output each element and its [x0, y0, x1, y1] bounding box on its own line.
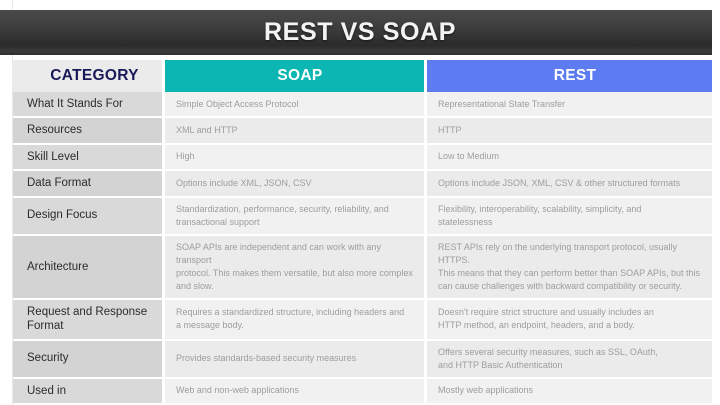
column-header-soap: SOAP	[162, 60, 424, 92]
value-line: This means that they can perform better …	[438, 267, 702, 280]
table-row: SecurityProvides standards-based securit…	[13, 341, 712, 379]
value-line: protocol. This makes them versatile, but…	[176, 267, 414, 280]
value-line: HTTP method, an endpoint, headers, and a…	[438, 319, 702, 332]
row-rest-value: Representational State Transfer	[424, 92, 712, 118]
row-category-label: Design Focus	[13, 198, 162, 236]
value-line: and slow.	[176, 280, 414, 293]
value-line: High	[176, 150, 414, 163]
title-banner: REST VS SOAP	[0, 10, 720, 55]
row-rest-value: REST APIs rely on the underlying transpo…	[424, 236, 712, 300]
value-line: Offers several security measures, such a…	[438, 346, 702, 359]
value-line: Simple Object Access Protocol	[176, 98, 414, 111]
column-header-rest: REST	[424, 60, 712, 92]
value-line: HTTP	[438, 124, 702, 137]
row-category-label: Skill Level	[13, 145, 162, 171]
row-rest-value: Flexibility, interoperability, scalabili…	[424, 198, 712, 236]
value-line: Doesn't require strict structure and usu…	[438, 306, 702, 319]
value-line: a message body.	[176, 319, 414, 332]
row-category-label: Architecture	[13, 236, 162, 300]
value-line: can cause challenges with backward compa…	[438, 280, 702, 293]
row-category-label: Used in	[13, 379, 162, 405]
value-line: Flexibility, interoperability, scalabili…	[438, 203, 702, 216]
row-soap-value: Web and non-web applications	[162, 379, 424, 405]
value-line: Web and non-web applications	[176, 384, 414, 397]
page-left-margin	[0, 0, 13, 405]
table-header: CATEGORY SOAP REST	[13, 60, 712, 92]
value-line: Provides standards-based security measur…	[176, 352, 414, 365]
row-soap-value: Provides standards-based security measur…	[162, 341, 424, 379]
value-line: XML and HTTP	[176, 124, 414, 137]
value-line: Standardization, performance, security, …	[176, 203, 414, 216]
value-line: transactional support	[176, 216, 414, 229]
value-line: Representational State Transfer	[438, 98, 702, 111]
table-header-row: CATEGORY SOAP REST	[13, 60, 712, 92]
table-row: ResourcesXML and HTTPHTTP	[13, 118, 712, 144]
row-rest-value: Doesn't require strict structure and usu…	[424, 300, 712, 341]
row-soap-value: SOAP APIs are independent and can work w…	[162, 236, 424, 300]
value-line: Mostly web applications	[438, 384, 702, 397]
rest-vs-soap-comparison-table: CATEGORY SOAP REST What It Stands ForSim…	[13, 60, 712, 405]
row-soap-value: High	[162, 145, 424, 171]
column-header-category: CATEGORY	[13, 60, 162, 92]
table-row: Request and Response FormatRequires a st…	[13, 300, 712, 341]
row-category-label: What It Stands For	[13, 92, 162, 118]
value-line: SOAP APIs are independent and can work w…	[176, 241, 414, 267]
page-title: REST VS SOAP	[264, 20, 456, 45]
row-rest-value: Low to Medium	[424, 145, 712, 171]
row-category-label: Resources	[13, 118, 162, 144]
table-row: Design FocusStandardization, performance…	[13, 198, 712, 236]
row-rest-value: Mostly web applications	[424, 379, 712, 405]
row-soap-value: Options include XML, JSON, CSV	[162, 171, 424, 197]
value-line: statelessness	[438, 216, 702, 229]
table-row: Data FormatOptions include XML, JSON, CS…	[13, 171, 712, 197]
row-rest-value: HTTP	[424, 118, 712, 144]
row-rest-value: Options include JSON, XML, CSV & other s…	[424, 171, 712, 197]
row-category-label: Request and Response Format	[13, 300, 162, 341]
page-right-margin	[712, 0, 720, 405]
row-soap-value: Standardization, performance, security, …	[162, 198, 424, 236]
table-row: Skill LevelHighLow to Medium	[13, 145, 712, 171]
value-line: Requires a standardized structure, inclu…	[176, 306, 414, 319]
table-row: Used inWeb and non-web applicationsMostl…	[13, 379, 712, 405]
value-line: and HTTP Basic Authentication	[438, 359, 702, 372]
table-body: What It Stands ForSimple Object Access P…	[13, 92, 712, 405]
value-line: Options include JSON, XML, CSV & other s…	[438, 177, 702, 190]
table-row: ArchitectureSOAP APIs are independent an…	[13, 236, 712, 300]
value-line: Options include XML, JSON, CSV	[176, 177, 414, 190]
value-line: REST APIs rely on the underlying transpo…	[438, 241, 702, 267]
row-soap-value: Requires a standardized structure, inclu…	[162, 300, 424, 341]
row-rest-value: Offers several security measures, such a…	[424, 341, 712, 379]
row-category-label: Data Format	[13, 171, 162, 197]
value-line: Low to Medium	[438, 150, 702, 163]
row-soap-value: Simple Object Access Protocol	[162, 92, 424, 118]
table-row: What It Stands ForSimple Object Access P…	[13, 92, 712, 118]
row-category-label: Security	[13, 341, 162, 379]
row-soap-value: XML and HTTP	[162, 118, 424, 144]
